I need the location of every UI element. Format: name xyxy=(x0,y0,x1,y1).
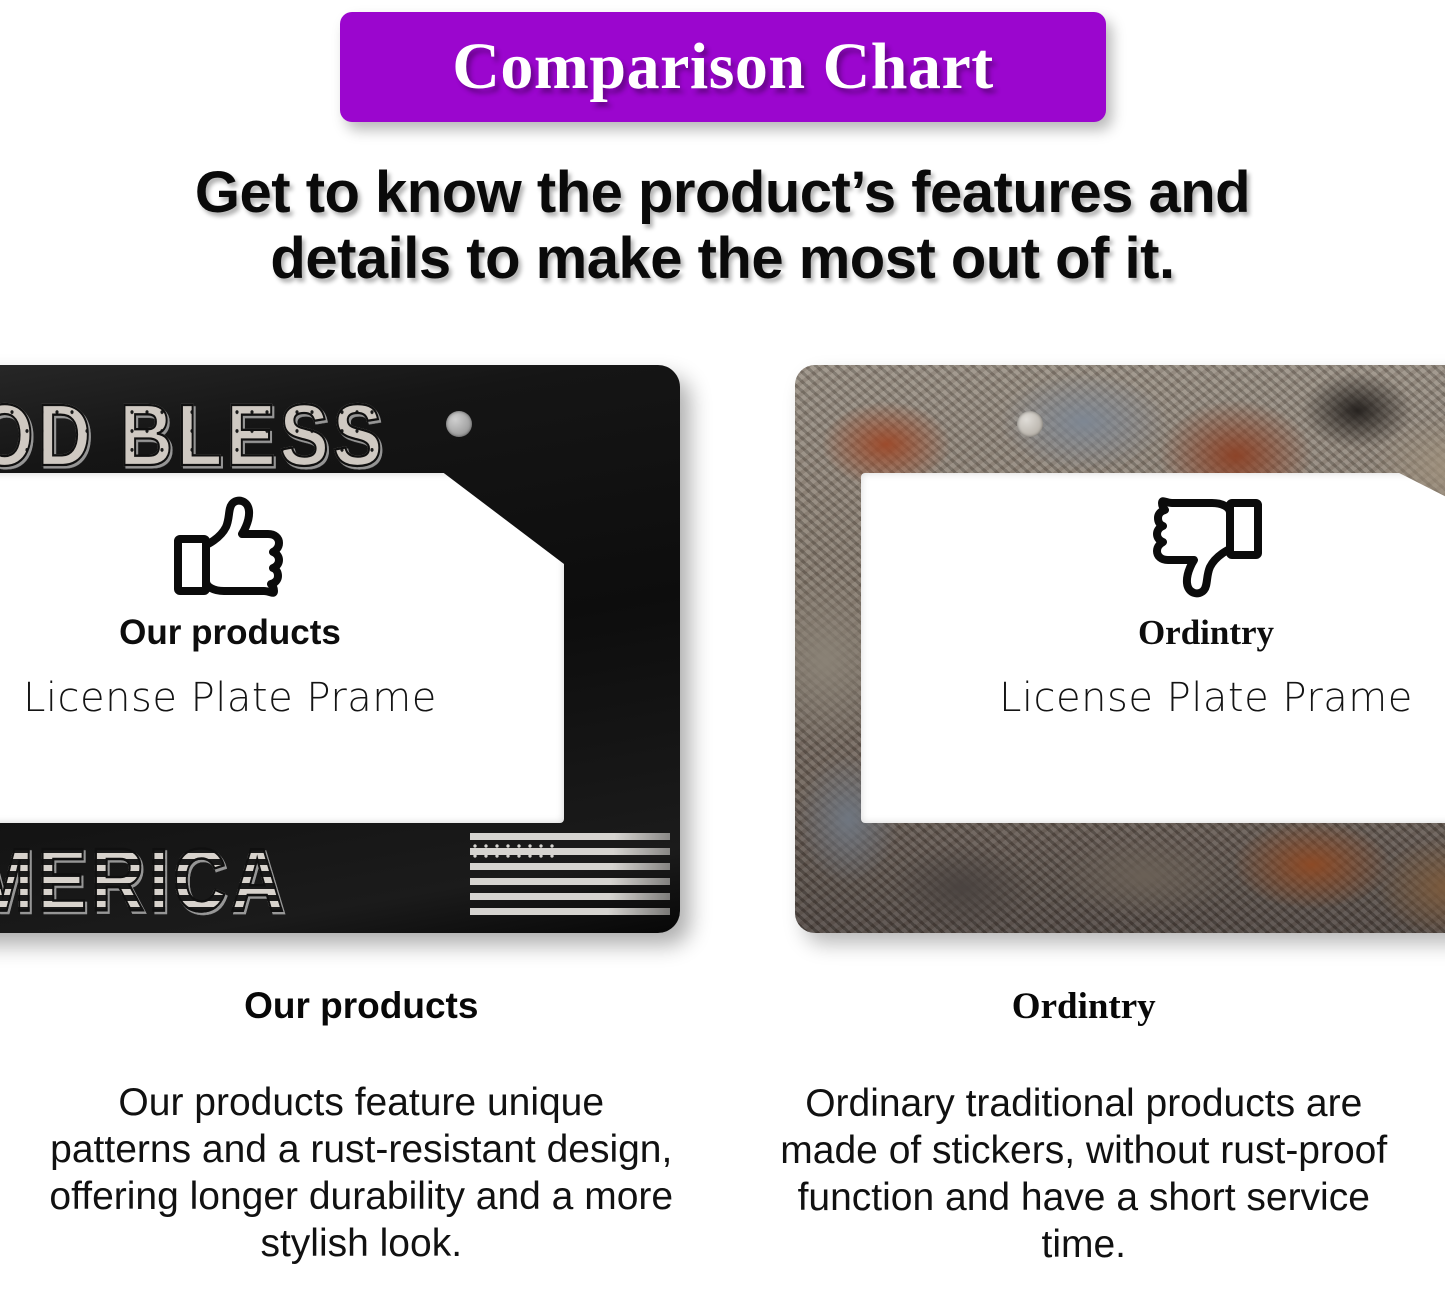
ordintry-column: Ordintry Ordinary traditional products a… xyxy=(723,985,1445,1315)
page-title: Comparison Chart xyxy=(452,29,994,105)
ordintry-column-body: Ordinary traditional products are made o… xyxy=(771,1080,1398,1268)
our-product-license-plate-frame: OD BLESS Our products License Plate Pram… xyxy=(0,365,680,933)
subtitle-line-1: Get to know the product’s features and xyxy=(195,160,1250,225)
our-products-column-body: Our products feature unique patterns and… xyxy=(48,1079,675,1267)
product-comparison-images: OD BLESS Our products License Plate Pram… xyxy=(0,340,1445,940)
comparison-chart-banner: Comparison Chart xyxy=(340,12,1106,122)
plate-window-content-right: Ordintry License Plate Prame xyxy=(861,473,1445,823)
american-flag-icon xyxy=(470,831,670,915)
comparison-description-columns: Our products Our products feature unique… xyxy=(0,985,1445,1315)
page-subtitle: Get to know the product’s features and d… xyxy=(0,160,1445,292)
ordintry-heading: Ordintry xyxy=(1138,613,1274,653)
plate-window-right: Ordintry License Plate Prame xyxy=(861,473,1445,823)
our-products-subheading: License Plate Prame xyxy=(23,675,437,721)
our-products-heading: Our products xyxy=(119,613,341,653)
ordinary-license-plate-frame: Ordintry License Plate Prame xyxy=(795,365,1445,933)
frame-top-banner-text: OD BLESS xyxy=(0,385,386,485)
plate-window-left: Our products License Plate Prame xyxy=(0,473,564,823)
frame-bottom-banner-text: MERICA xyxy=(0,829,288,931)
our-products-column-title: Our products xyxy=(48,985,675,1027)
subtitle-line-2: details to make the most out of it. xyxy=(0,226,1445,292)
mounting-hole-icon xyxy=(446,411,472,437)
ordintry-column-title: Ordintry xyxy=(771,985,1398,1028)
plate-window-content-left: Our products License Plate Prame xyxy=(0,473,564,823)
thumbs-down-icon xyxy=(1148,495,1264,599)
thumbs-up-icon xyxy=(172,495,288,599)
ordintry-subheading: License Plate Prame xyxy=(999,675,1413,721)
mounting-hole-icon-right xyxy=(1017,411,1043,437)
our-products-column: Our products Our products feature unique… xyxy=(0,985,723,1315)
